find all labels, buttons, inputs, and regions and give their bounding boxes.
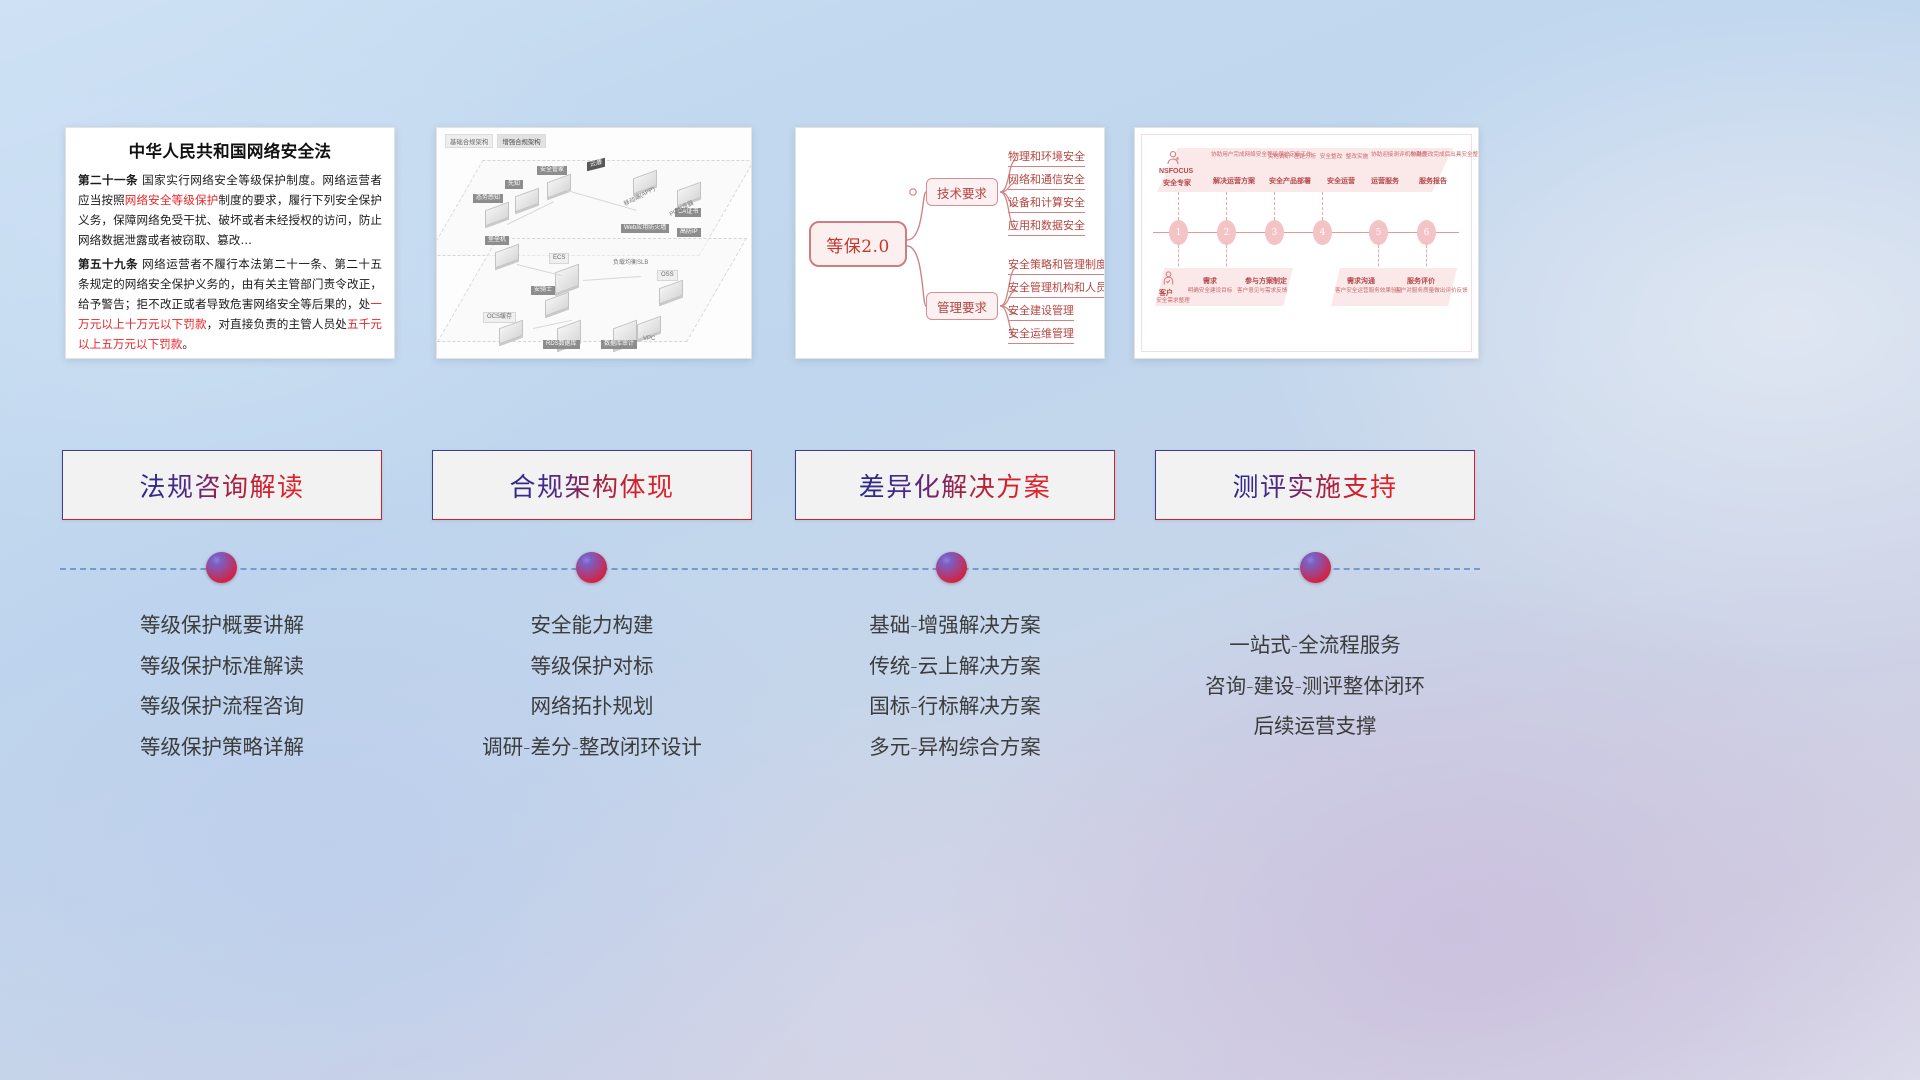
headline-box-compliance-architecture[interactable]: 合规架构体现 (432, 450, 752, 520)
card-compliance-architecture[interactable]: 基础合规架构 增强合规架构 云盾 态势感知 先知 安全管家 堡垒机 ECS 安骑… (436, 127, 752, 359)
flow-connector (1426, 245, 1427, 271)
mindmap-branch-management: 管理要求 (926, 292, 998, 320)
list-item: 等级保护流程咨询 (62, 686, 382, 727)
article-21-highlight: 网络安全等级保护 (125, 193, 219, 207)
node-label-ecs: ECS (549, 253, 569, 264)
flow-bottom-item: 需求沟通 (1347, 276, 1375, 286)
list-item: 传统-云上解决方案 (795, 646, 1115, 687)
detail-list-compliance-architecture: 安全能力构建 等级保护对标 网络拓扑规划 调研-差分-整改闭环设计 (432, 605, 752, 767)
timeline-dashed-line (60, 568, 1480, 570)
flow-bottom-sub: 客户对服务质量做出评价反馈 (1395, 288, 1453, 296)
headline-row: 法规咨询解读 合规架构体现 差异化解决方案 测评实施支持 (0, 450, 1920, 520)
flow-connector (1226, 245, 1227, 271)
flow-timeline-axis (1153, 232, 1459, 233)
list-item: 等级保护策略详解 (62, 727, 382, 768)
headline-text: 合规架构体现 (509, 467, 674, 504)
flow-top-item: 实地调研 (1267, 154, 1291, 162)
flow-top-item: 差距分析 (1293, 154, 1317, 162)
architecture-diagram: 基础合规架构 增强合规架构 云盾 态势感知 先知 安全管家 堡垒机 ECS 安骑… (437, 128, 751, 358)
timeline-dot-1[interactable] (206, 552, 237, 583)
detail-list-regulation-consulting: 等级保护概要讲解 等级保护标准解读 等级保护流程咨询 等级保护策略详解 (62, 605, 382, 767)
flow-top-heading: 解决运营方案 (1213, 176, 1255, 186)
architecture-canvas: 云盾 态势感知 先知 安全管家 堡垒机 ECS 安骑士 OCS缓存 RDS数据库 (437, 128, 751, 358)
node-label-situational-awareness: 态势感知 (473, 194, 503, 203)
node-label-anqishi: 安骑士 (531, 286, 555, 295)
node-label-rds: RDS数据库 (543, 340, 580, 349)
flow-step-marker: 2 (1217, 220, 1236, 245)
node-label-security-steward: 安全管家 (537, 166, 567, 175)
flow-bottom-sub: 明确安全建设目标 (1187, 288, 1233, 296)
mindmap-leaf: 物理和环境安全 (1008, 148, 1085, 167)
list-item: 等级保护概要讲解 (62, 605, 382, 646)
service-flow-right-ribbon (1331, 268, 1457, 306)
mindmap-leaf: 设备和计算安全 (1008, 194, 1085, 213)
flow-bottom-sub: 客户安全运营服务效果验证 (1335, 288, 1391, 296)
node-label-ocs-cache: OCS缓存 (483, 312, 516, 323)
flow-top-item: 协助整改完成后出具安全整体加固报告 (1411, 152, 1455, 160)
detail-list-differentiated-solutions: 基础-增强解决方案 传统-云上解决方案 国标-行标解决方案 多元-异构综合方案 (795, 605, 1115, 767)
article-59-end: 。 (182, 337, 194, 351)
flow-step-marker: 3 (1265, 220, 1284, 245)
flow-step-marker: 5 (1369, 220, 1388, 245)
mindmap-leaf: 安全管理机构和人员 (1008, 279, 1105, 298)
list-item: 等级保护对标 (432, 646, 752, 687)
node-label-vpc: VPC (643, 336, 655, 343)
list-item: 等级保护标准解读 (62, 646, 382, 687)
timeline-dot-3[interactable] (936, 552, 967, 583)
flow-connector (1178, 192, 1179, 220)
brand-subtitle: 安全专家 (1163, 178, 1191, 188)
flow-top-item: 整改实施 (1345, 154, 1369, 162)
list-item: 安全能力构建 (432, 605, 752, 646)
list-item: 一站式-全流程服务 (1155, 625, 1475, 666)
card-cybersecurity-law[interactable]: 中华人民共和国网络安全法 第二十一条 国家实行网络安全等级保护制度。网络运营者应… (65, 127, 395, 359)
flow-bottom-item: 服务评价 (1407, 276, 1435, 286)
headline-box-differentiated-solutions[interactable]: 差异化解决方案 (795, 450, 1115, 520)
node-label-bastion-host: 堡垒机 (485, 236, 509, 245)
list-item: 调研-差分-整改闭环设计 (432, 727, 752, 768)
flow-step-marker: 1 (1169, 220, 1188, 245)
headline-box-assessment-support[interactable]: 测评实施支持 (1155, 450, 1475, 520)
law-body: 中华人民共和国网络安全法 第二十一条 国家实行网络安全等级保护制度。网络运营者应… (66, 128, 394, 359)
headline-box-regulation-consulting[interactable]: 法规咨询解读 (62, 450, 382, 520)
flow-bottom-sub: 客户意见与需求反馈 (1237, 288, 1287, 296)
headline-text: 法规咨询解读 (139, 467, 304, 504)
mindmap-root: 等保2.0 (809, 221, 907, 267)
flow-connector (1226, 192, 1227, 220)
mindmap-leaf: 网络和通信安全 (1008, 171, 1085, 190)
mindmap-leaf: 安全建设管理 (1008, 302, 1074, 321)
card-mindmap-dengbao[interactable]: 等保2.0 技术要求 管理要求 物理和环境安全 网络和通信安全 设备和计算安全 … (795, 127, 1105, 359)
flow-step-marker: 6 (1417, 220, 1436, 245)
list-item: 基础-增强解决方案 (795, 605, 1115, 646)
headline-text: 测评实施支持 (1232, 467, 1397, 504)
mindmap-branch-technical: 技术要求 (926, 178, 998, 206)
flow-top-item: 安全整改 (1319, 154, 1343, 162)
customer-sublabel: 安全需求整理 (1151, 298, 1195, 306)
node-label-db-audit: 数据库审计 (601, 340, 637, 349)
article-59-label: 第五十九条 (78, 257, 138, 271)
article-59-mid: ，对直接负责的主管人员处 (207, 317, 347, 331)
flow-connector (1378, 245, 1379, 271)
list-item: 网络拓扑规划 (432, 686, 752, 727)
flow-top-item: 协助用户完成网络安全等级保护定级工作 (1211, 152, 1263, 160)
list-item: 后续运营支撑 (1155, 706, 1475, 747)
flow-connector (1178, 245, 1179, 271)
detail-list-assessment-support: 一站式-全流程服务 咨询-建设-测评整体闭环 后续运营支撑 (1155, 625, 1475, 747)
mindmap-leaf: 应用和数据安全 (1008, 217, 1085, 236)
law-article-59: 第五十九条 网络运营者不履行本法第二十一条、第二十五条规定的网络安全保护义务的，… (78, 255, 382, 355)
mindmap-leaf: 安全运维管理 (1008, 325, 1074, 344)
card-service-flow[interactable]: NSFOCUS 安全专家 协助用户完成网络安全等级保护定级工作 实地调研 差距分… (1134, 127, 1479, 359)
article-21-label: 第二十一条 (78, 173, 138, 187)
flow-connector (1322, 192, 1323, 220)
node-label-slb: 负载均衡SLB (613, 260, 648, 267)
customer-label: 客户 (1159, 288, 1173, 298)
timeline-dot-2[interactable] (576, 552, 607, 583)
flow-top-heading: 服务报告 (1419, 176, 1447, 186)
flow-top-item: 协助迎接测评机构测评 (1371, 152, 1411, 160)
flow-top-heading: 安全产品部署 (1269, 176, 1311, 186)
reference-cards-row: 中华人民共和国网络安全法 第二十一条 国家实行网络安全等级保护制度。网络运营者应… (0, 127, 1920, 362)
node-label-oss: OSS (657, 270, 678, 281)
node-label-anti-ddos: 高防IP (677, 228, 701, 237)
mindmap: 等保2.0 技术要求 管理要求 物理和环境安全 网络和通信安全 设备和计算安全 … (796, 128, 1104, 358)
list-item: 多元-异构综合方案 (795, 727, 1115, 768)
node-label-xianzhi: 先知 (505, 180, 523, 189)
timeline-dot-4[interactable] (1300, 552, 1331, 583)
headline-text: 差异化解决方案 (859, 467, 1052, 504)
list-item: 国标-行标解决方案 (795, 686, 1115, 727)
mindmap-leaf: 安全策略和管理制度 (1008, 256, 1105, 275)
timeline (0, 568, 1920, 572)
list-item: 咨询-建设-测评整体闭环 (1155, 666, 1475, 707)
flow-connector (1274, 192, 1275, 220)
brand-name: NSFOCUS (1159, 168, 1193, 175)
flow-bottom-item: 参与方案制定 (1245, 276, 1287, 286)
service-flow-diagram: NSFOCUS 安全专家 协助用户完成网络安全等级保护定级工作 实地调研 差距分… (1135, 128, 1478, 358)
flow-step-marker: 4 (1313, 220, 1332, 245)
flow-bottom-item: 需求 (1203, 276, 1217, 286)
flow-top-heading: 运营服务 (1371, 176, 1399, 186)
law-article-21: 第二十一条 国家实行网络安全等级保护制度。网络运营者应当按照网络安全等级保护制度… (78, 171, 382, 251)
flow-top-heading: 安全运营 (1327, 176, 1355, 186)
law-title: 中华人民共和国网络安全法 (78, 138, 382, 162)
node-label-waf: Web应用防火墙 (621, 224, 669, 233)
